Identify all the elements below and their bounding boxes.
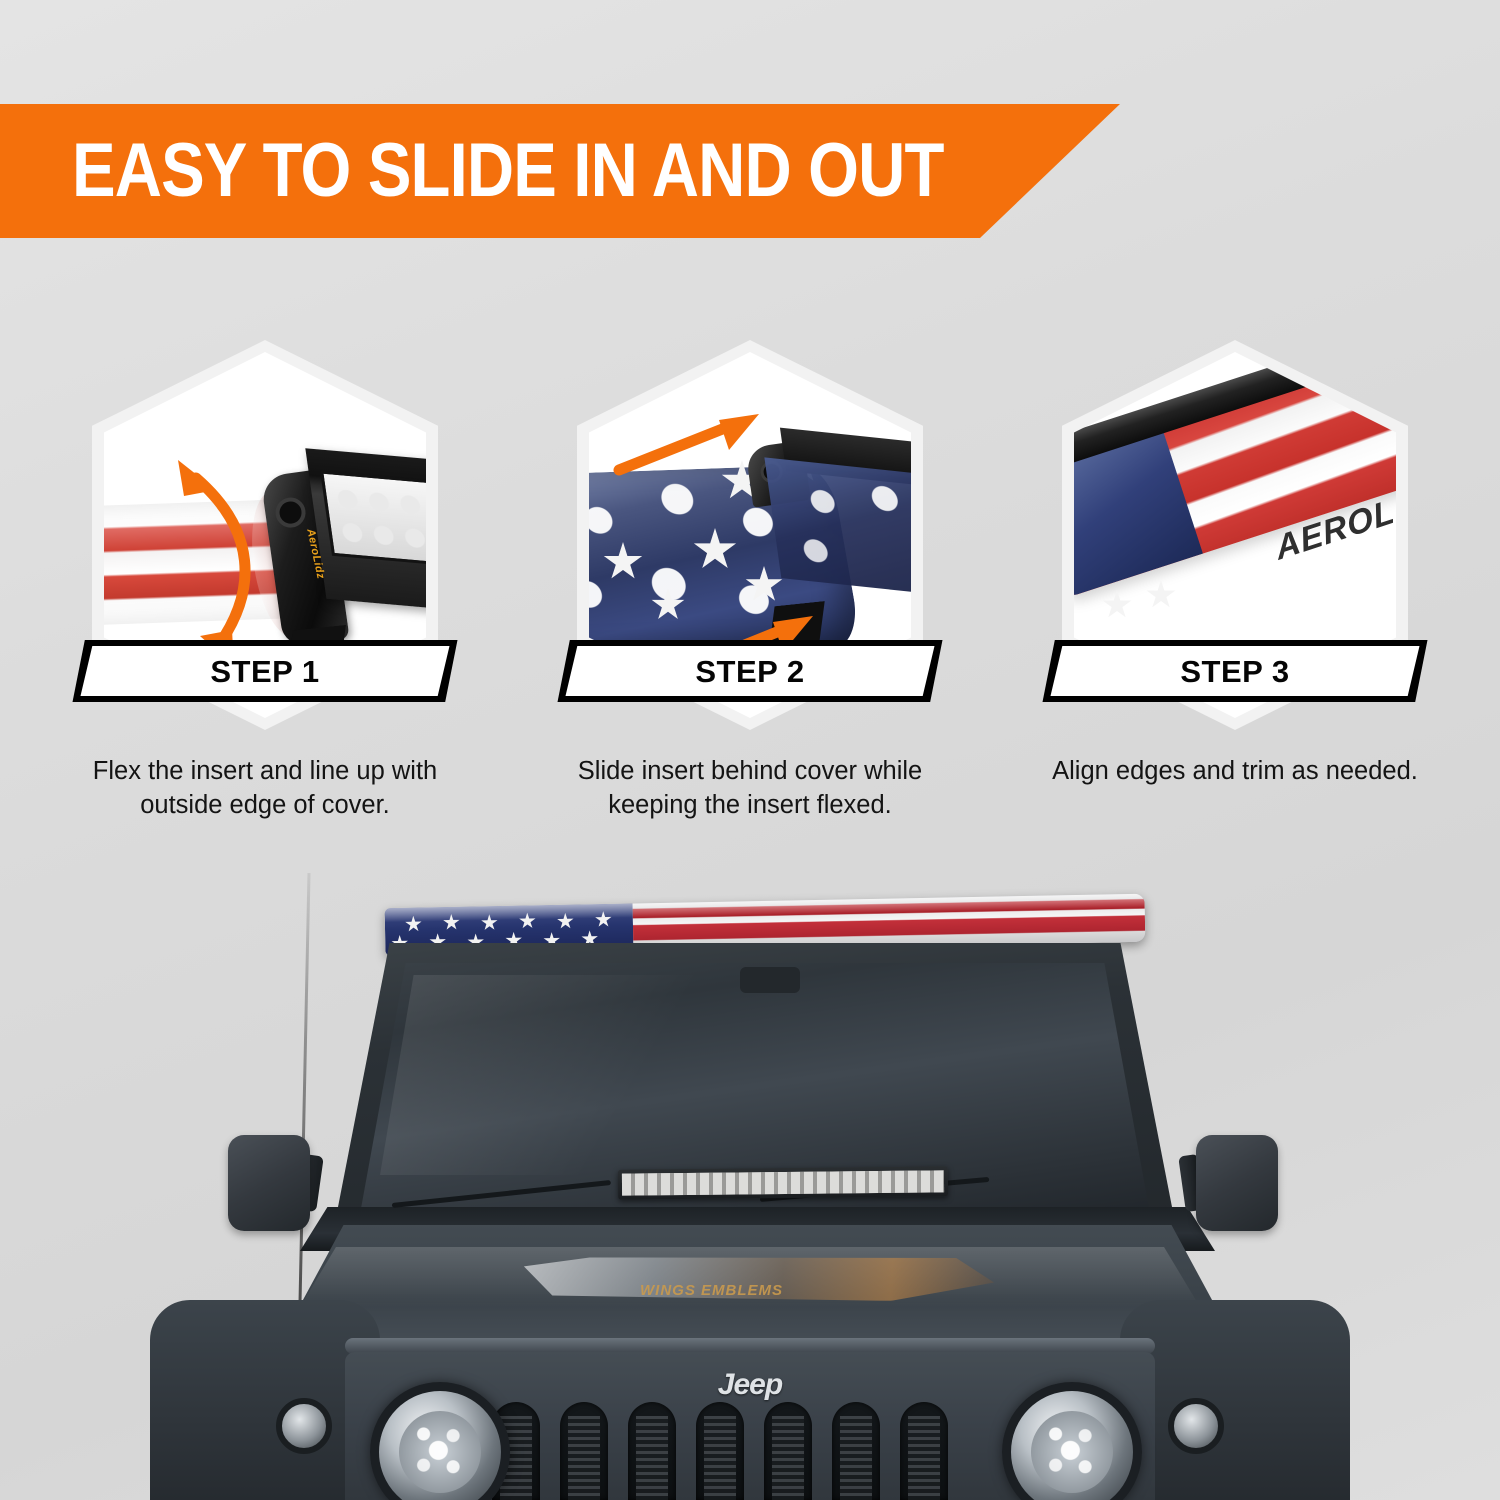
grille-slot (696, 1402, 744, 1500)
steps-row: AeroLidz STEP 1 Flex the insert and line… (0, 340, 1500, 870)
grille-slot-mesh (704, 1416, 736, 1500)
glass-reflection (380, 975, 800, 1175)
hood-mounted-led-light-bar (618, 1166, 948, 1199)
step-column-3: AEROLIDZ STEP 3 Align edges and trim as … (1015, 340, 1455, 870)
jeep-badge: Jeep (718, 1368, 782, 1402)
step-1-caption: Flex the insert and line up with outside… (65, 755, 465, 823)
grille-slot (560, 1402, 608, 1500)
light-bar-body (764, 457, 911, 596)
step-3-caption: Align edges and trim as needed. (1035, 755, 1435, 789)
infographic-page: EASY TO SLIDE IN AND OUT AeroLidz (0, 0, 1500, 1500)
grille-slot-mesh (840, 1416, 872, 1500)
led-lens-array (622, 1170, 944, 1195)
page-title: EASY TO SLIDE IN AND OUT (72, 133, 944, 209)
side-mirror-left (228, 1135, 310, 1231)
hood-decal-text: WINGS EMBLEMS (640, 1282, 783, 1299)
star-icon (1102, 590, 1132, 620)
grille-slot-mesh (568, 1416, 600, 1500)
side-mirror-right (1196, 1135, 1278, 1231)
grille-slot (832, 1402, 880, 1500)
step-2-caption: Slide insert behind cover while keeping … (550, 755, 950, 823)
grille-slot (628, 1402, 676, 1500)
star-icon (1146, 580, 1176, 610)
step-1-badge-label: STEP 1 (210, 656, 319, 687)
rear-view-mirror (740, 967, 800, 993)
step-2-badge-label: STEP 2 (695, 656, 804, 687)
flag-blue-field (1074, 432, 1203, 597)
headlight-led-ring (1031, 1411, 1114, 1494)
step-1-badge: STEP 1 (81, 646, 450, 696)
step-column-1: AeroLidz STEP 1 Flex the insert and line… (45, 340, 485, 870)
header-banner: EASY TO SLIDE IN AND OUT (0, 104, 1120, 238)
headlight-led-ring (399, 1411, 482, 1494)
step-column-2: STEP 2 Slide insert behind cover while k… (530, 340, 970, 870)
step-2-badge: STEP 2 (566, 646, 935, 696)
slide-arrow-upper-icon (613, 410, 763, 480)
turn-signal-right (1168, 1398, 1224, 1454)
grille-slot-mesh (636, 1416, 668, 1500)
turn-signal-left (276, 1398, 332, 1454)
grille-slot-mesh (908, 1416, 940, 1500)
step-3-badge-label: STEP 3 (1180, 656, 1289, 687)
flex-curved-arrow-icon (138, 440, 318, 670)
grille-slot-mesh (772, 1416, 804, 1500)
step-3-badge: STEP 3 (1051, 646, 1420, 696)
grille-slot (900, 1402, 948, 1500)
grille-slot (764, 1402, 812, 1500)
